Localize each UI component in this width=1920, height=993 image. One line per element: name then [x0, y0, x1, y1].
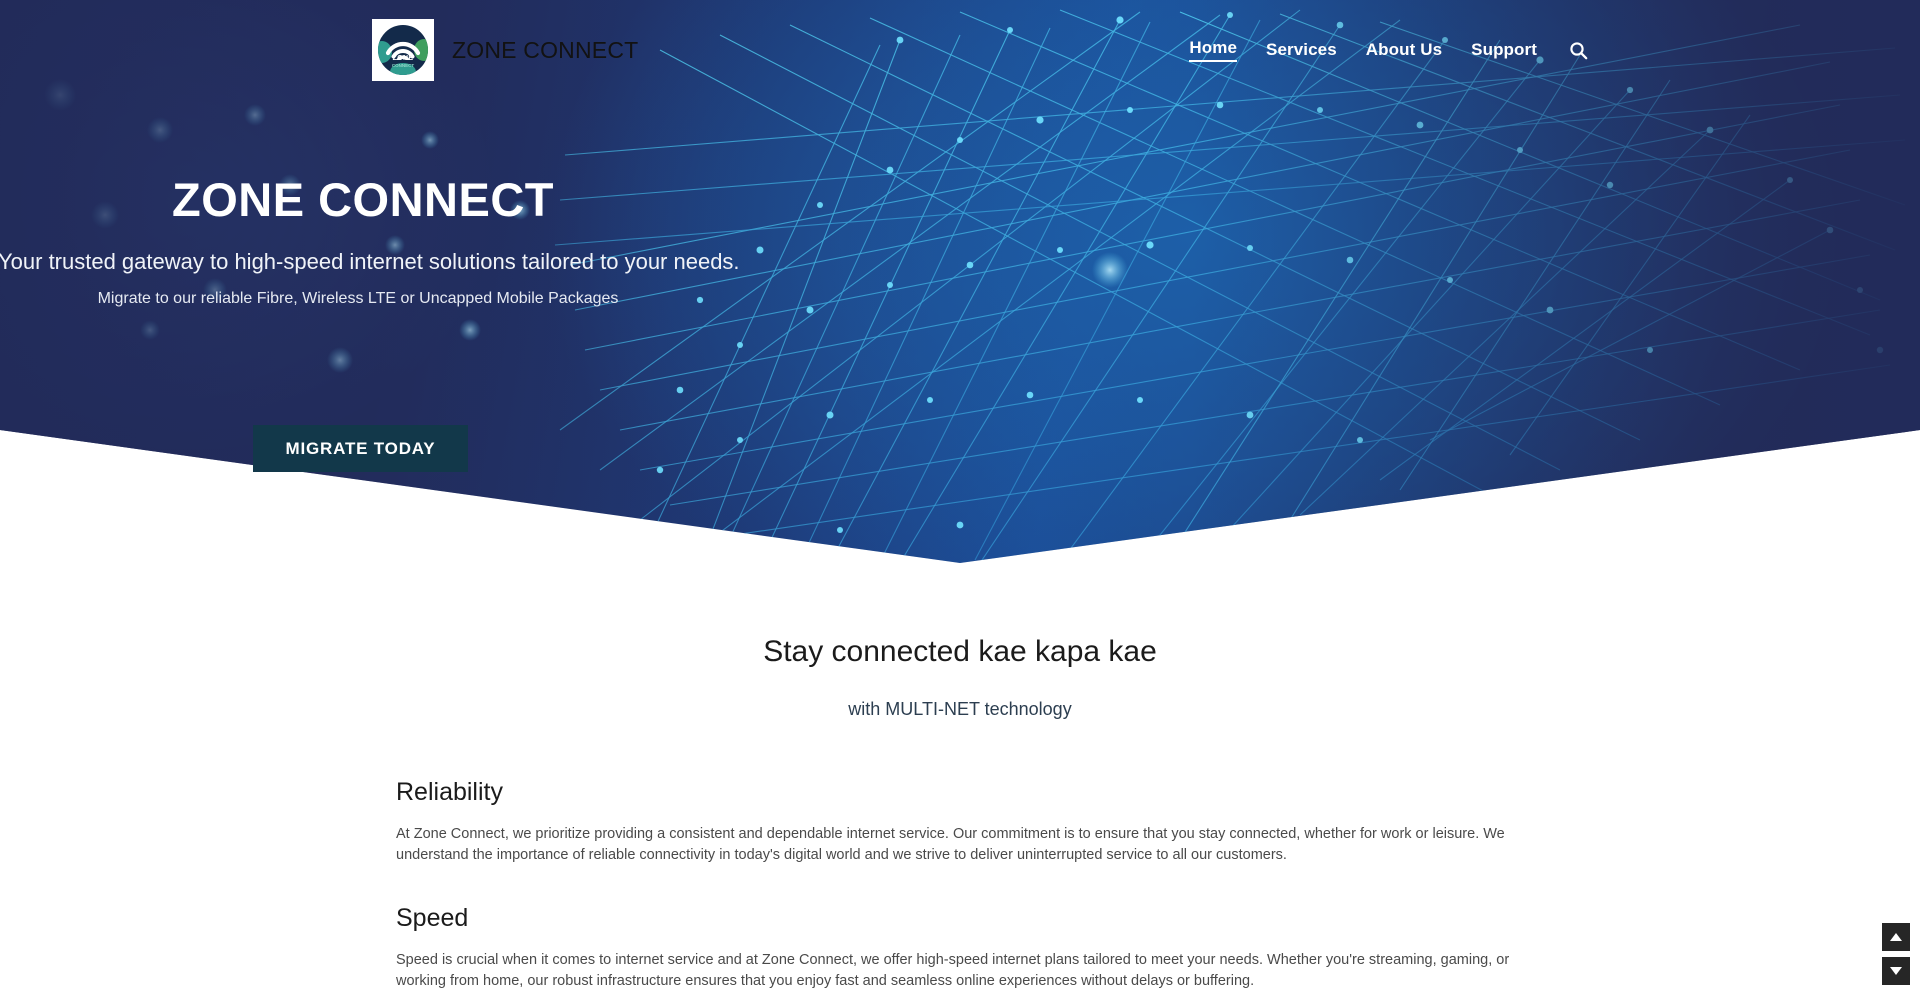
hero-subtitle: Your trusted gateway to high-speed inter… [0, 249, 718, 275]
search-icon[interactable] [1566, 38, 1590, 62]
brand[interactable]: ZONE CONNECT ZONE CONNECT [372, 19, 638, 81]
migrate-today-button[interactable]: MIGRATE TODAY [253, 425, 468, 472]
feature-blocks: Reliability At Zone Connect, we prioriti… [396, 778, 1524, 993]
nav-item-about-us[interactable]: About Us [1366, 40, 1442, 60]
feature-body: At Zone Connect, we prioritize providing… [396, 824, 1524, 866]
scroll-up-button[interactable] [1882, 923, 1910, 951]
wifi-logo-icon: ZONE CONNECT [378, 25, 428, 75]
section-title: Stay connected kae kapa kae [0, 635, 1920, 669]
hero-tagline: Migrate to our reliable Fibre, Wireless … [0, 290, 718, 308]
feature-block-reliability: Reliability At Zone Connect, we prioriti… [396, 778, 1524, 866]
brand-name: ZONE CONNECT [452, 37, 638, 64]
nav-item-services[interactable]: Services [1266, 40, 1337, 60]
main-navigation: Home Services About Us Support [1189, 38, 1590, 62]
feature-body: Speed is crucial when it comes to intern… [396, 950, 1524, 992]
section-subtitle: with MULTI-NET technology [0, 699, 1920, 720]
triangle-down-icon [1890, 967, 1902, 975]
feature-heading: Reliability [396, 778, 1524, 807]
scroll-controls [1882, 923, 1910, 985]
logo-box: ZONE CONNECT [372, 19, 434, 81]
triangle-up-icon [1890, 933, 1902, 941]
nav-item-home[interactable]: Home [1189, 38, 1237, 62]
feature-block-speed: Speed Speed is crucial when it comes to … [396, 904, 1524, 992]
scroll-down-button[interactable] [1882, 957, 1910, 985]
logo-wordmark: ZONE CONNECT [378, 55, 428, 69]
hero-title: ZONE CONNECT [172, 172, 554, 227]
feature-heading: Speed [396, 904, 1524, 933]
site-header: ZONE CONNECT ZONE CONNECT Home Services … [0, 0, 1920, 100]
section-header: Stay connected kae kapa kae with MULTI-N… [0, 635, 1920, 720]
nav-item-support[interactable]: Support [1471, 40, 1537, 60]
